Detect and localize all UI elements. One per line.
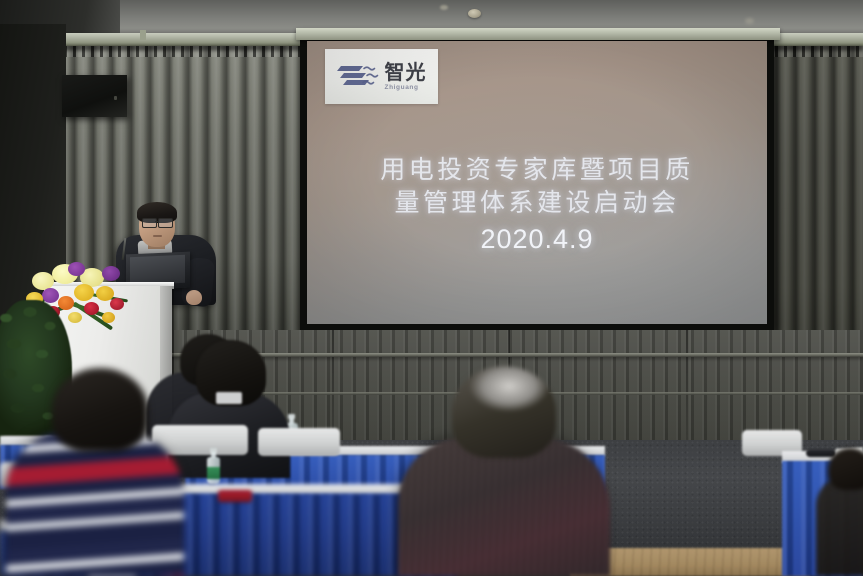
wall-panel-seam <box>332 330 334 442</box>
wall-speaker-led <box>114 96 117 100</box>
audience-head <box>828 448 863 490</box>
presenter-glasses-left-lens <box>142 218 157 228</box>
audience-head <box>52 368 148 452</box>
curtain-rail-bracket <box>140 30 146 40</box>
logo-pinyin: Zhiguang <box>385 85 419 92</box>
smoke-detector-icon <box>468 9 481 18</box>
slide-title-line-2: 量管理体系建设启动会 <box>307 186 767 219</box>
presenter-glasses-right-lens <box>158 218 173 228</box>
bottle-label <box>207 467 220 479</box>
audience-shirt-collar <box>216 392 242 404</box>
audience-striped-sweater <box>6 432 184 576</box>
logo-chinese-name: 智光 <box>385 62 427 82</box>
wall-panel-seam <box>686 330 688 442</box>
chair-back <box>258 428 340 456</box>
zhiguang-wave-bars-logo-icon <box>337 61 379 93</box>
presenter-glasses-bridge <box>155 221 159 222</box>
red-notebook <box>218 490 252 502</box>
curtain-right <box>766 46 863 366</box>
ceiling-downlight <box>745 18 754 24</box>
slide-title-line-1: 用电投资专家库暨项目质 <box>307 153 767 186</box>
conference-room-scene: 智光 Zhiguang 用电投资专家库暨项目质 量管理体系建设启动会 2020.… <box>0 0 863 576</box>
presenter-hand <box>186 290 202 305</box>
audience-grey-hair-right <box>398 438 610 576</box>
projection-screen-surface: 智光 Zhiguang 用电投资专家库暨项目质 量管理体系建设启动会 2020.… <box>307 41 767 324</box>
slide-title-block: 用电投资专家库暨项目质 量管理体系建设启动会 2020.4.9 <box>307 153 767 255</box>
ceiling-downlight <box>440 5 448 10</box>
audience-head <box>452 366 556 458</box>
wall-speaker-icon <box>62 75 127 117</box>
water-bottle <box>205 452 223 486</box>
chair-back <box>152 425 248 455</box>
presenter-mouth <box>153 235 162 237</box>
projection-screen-housing <box>296 28 780 40</box>
slide-logo-card: 智光 Zhiguang <box>325 49 438 104</box>
slide-date: 2020.4.9 <box>307 224 767 255</box>
audience-right-edge <box>816 476 863 576</box>
